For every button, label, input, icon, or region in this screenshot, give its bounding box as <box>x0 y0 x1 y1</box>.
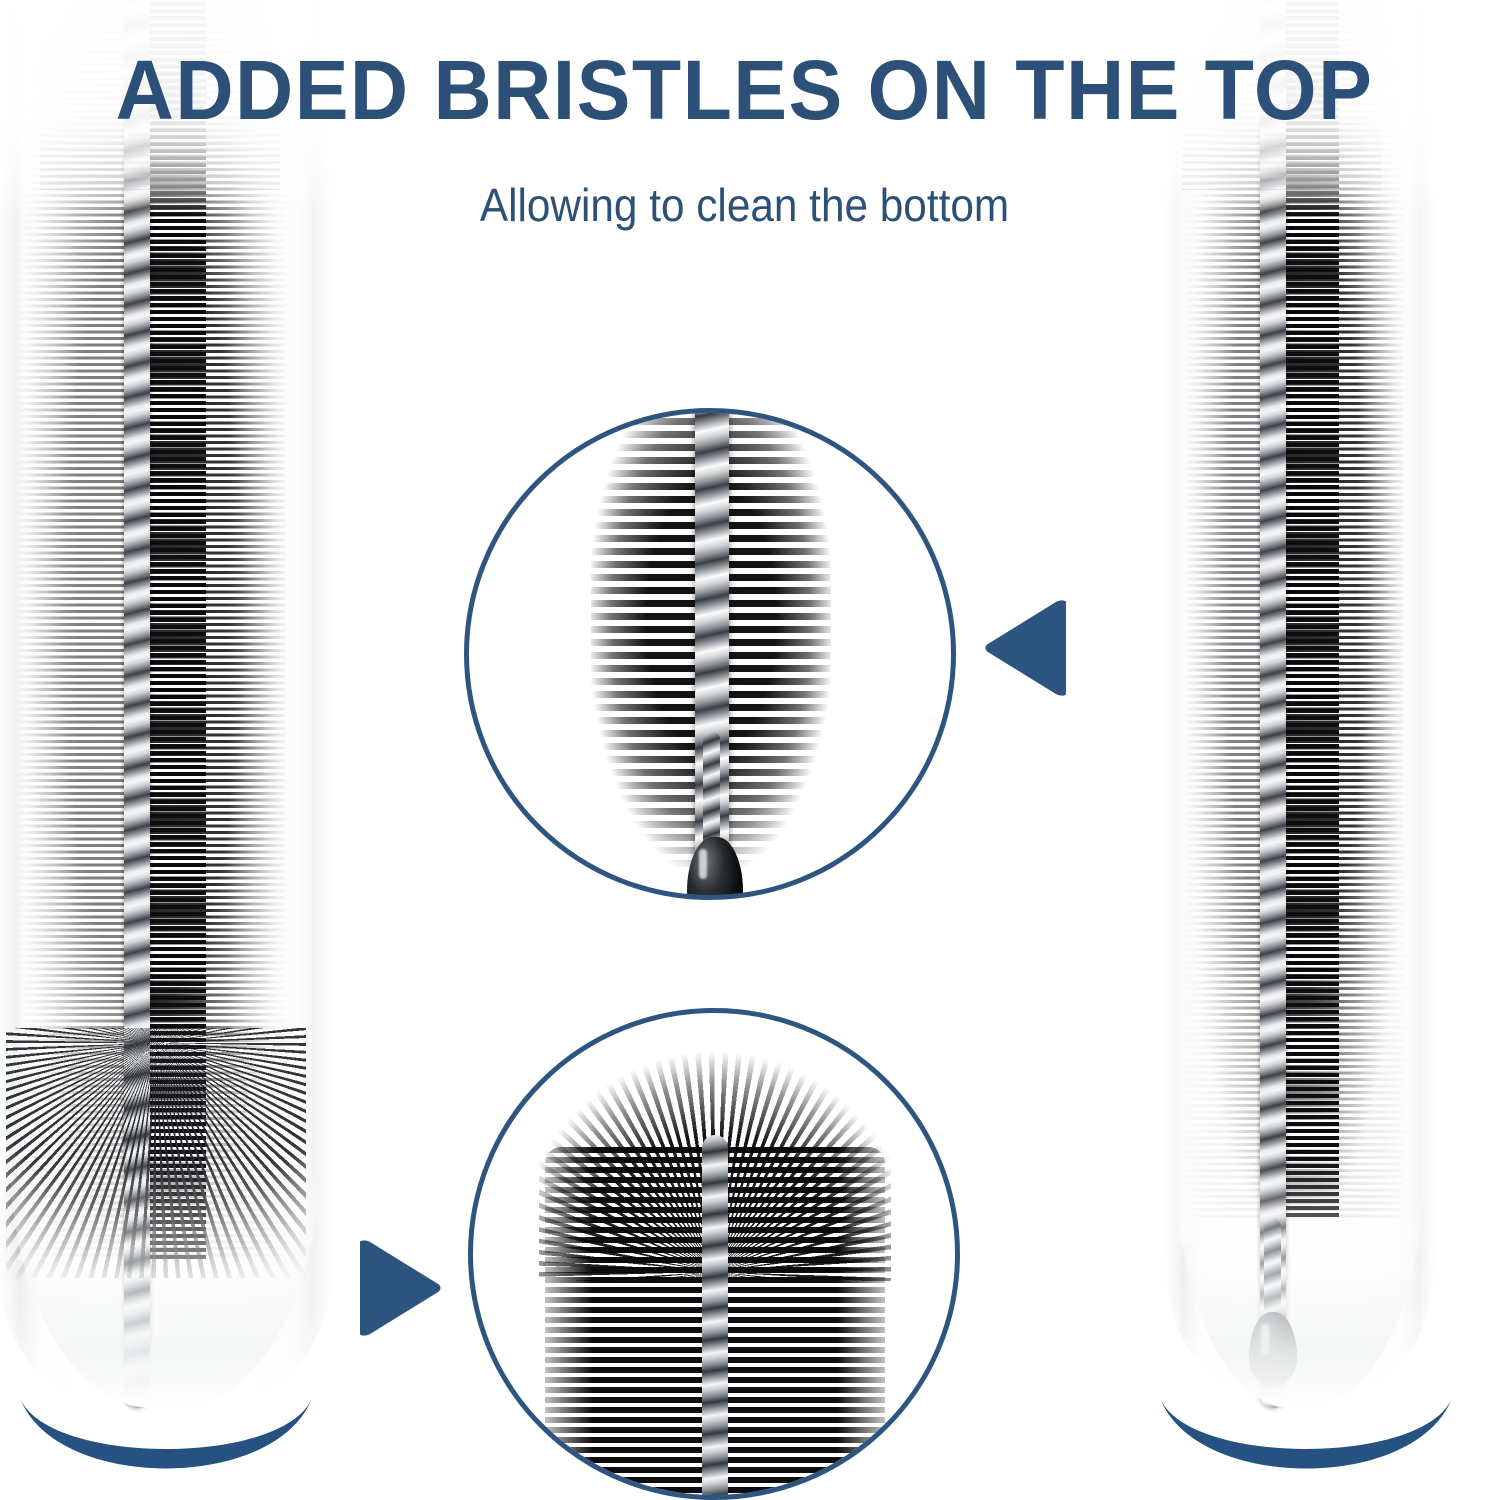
callout-circle-brush-tip <box>464 408 956 900</box>
crescent-accent-left <box>16 1388 316 1500</box>
arrow-right-pointing-icon <box>360 1240 444 1336</box>
subheadline: Allowing to clean the bottom <box>60 178 1430 232</box>
crescent-accent-right <box>1156 1388 1456 1500</box>
callout-circle-brush-head <box>468 1008 960 1500</box>
closeup-head-wire <box>702 1135 728 1500</box>
product-feature-banner: ADDED BRISTLES ON THE TOP Allowing to cl… <box>0 0 1489 1500</box>
brush-head-closeup <box>545 1051 885 1500</box>
arrow-left-pointing-icon <box>982 600 1066 696</box>
headline: ADDED BRISTLES ON THE TOP <box>30 44 1459 136</box>
